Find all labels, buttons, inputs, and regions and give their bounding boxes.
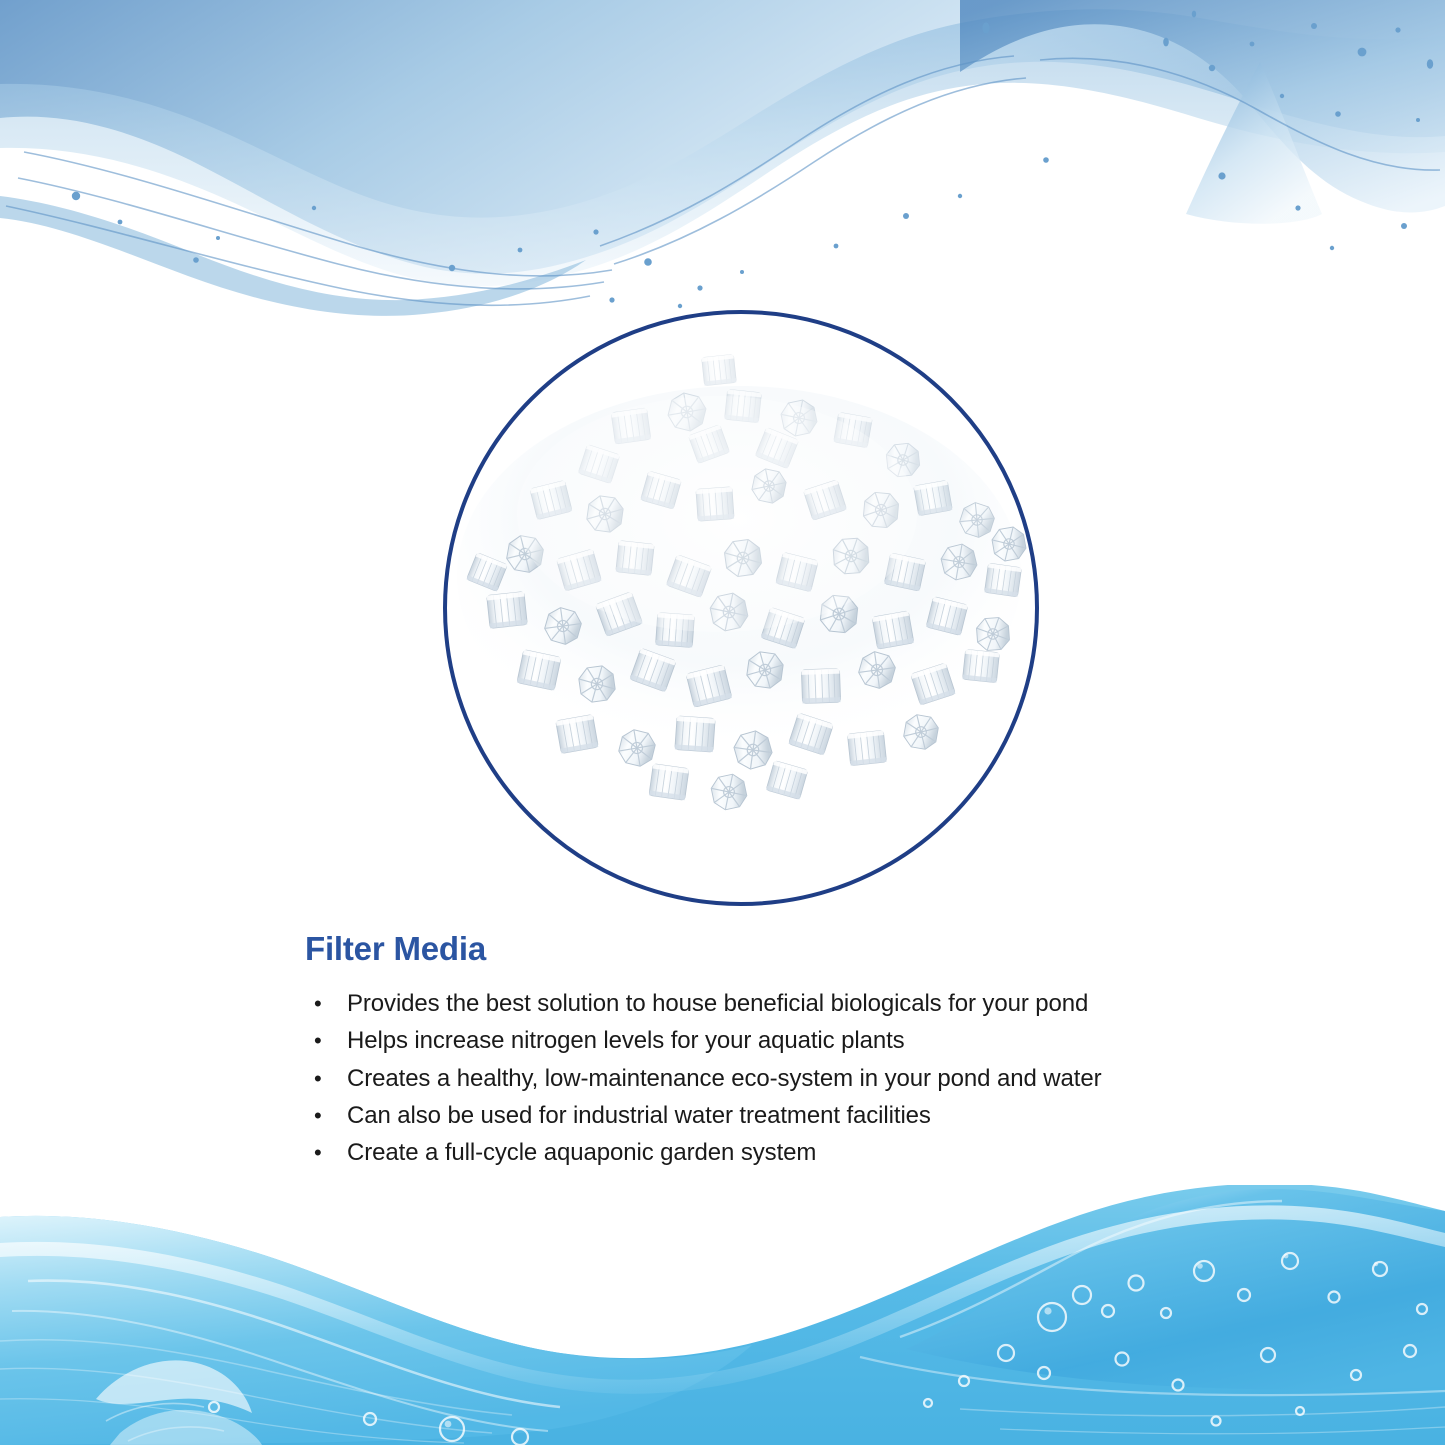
splash-left-tail bbox=[0, 196, 586, 316]
list-item-label: Creates a healthy, low-maintenance eco-s… bbox=[347, 1064, 1205, 1093]
splash-upper-body bbox=[0, 0, 1445, 274]
page-title: Filter Media bbox=[305, 932, 1205, 965]
bullet-icon: • bbox=[305, 991, 347, 1018]
filter-media-photo bbox=[447, 314, 1039, 906]
list-item: • Can also be used for industrial water … bbox=[305, 1101, 1205, 1130]
copy-block: Filter Media • Provides the best solutio… bbox=[305, 932, 1205, 1175]
product-image-circle bbox=[443, 310, 1039, 906]
water-bubbles bbox=[209, 1253, 1427, 1445]
water-right-crest bbox=[906, 1189, 1445, 1390]
splash-filaments bbox=[6, 56, 1440, 305]
list-item: • Creates a healthy, low-maintenance eco… bbox=[305, 1064, 1205, 1093]
splash-inner-sheet bbox=[0, 9, 1445, 286]
list-item-label: Provides the best solution to house bene… bbox=[347, 989, 1205, 1018]
list-item-label: Helps increase nitrogen levels for your … bbox=[347, 1026, 1205, 1055]
water-ripples bbox=[0, 1340, 1445, 1443]
splash-right-crest bbox=[960, 0, 1445, 213]
product-infographic-page: Filter Media • Provides the best solutio… bbox=[0, 0, 1445, 1445]
splash-droplets bbox=[72, 11, 1445, 309]
list-item: • Provides the best solution to house be… bbox=[305, 989, 1205, 1018]
water-body bbox=[0, 1185, 1445, 1445]
water-splash-banner bbox=[0, 0, 1445, 330]
water-foam bbox=[0, 1201, 1445, 1431]
water-surface-wave bbox=[0, 1185, 1445, 1445]
list-item: • Create a full-cycle aquaponic garden s… bbox=[305, 1138, 1205, 1167]
list-item-label: Create a full-cycle aquaponic garden sys… bbox=[347, 1138, 1205, 1167]
bullet-icon: • bbox=[305, 1140, 347, 1167]
feature-list: • Provides the best solution to house be… bbox=[305, 989, 1205, 1167]
bullet-icon: • bbox=[305, 1028, 347, 1055]
splash-spike bbox=[1186, 62, 1322, 224]
list-item-label: Can also be used for industrial water tr… bbox=[347, 1101, 1205, 1130]
list-item: • Helps increase nitrogen levels for you… bbox=[305, 1026, 1205, 1055]
bullet-icon: • bbox=[305, 1103, 347, 1130]
water-foam-burst bbox=[96, 1360, 262, 1445]
bullet-icon: • bbox=[305, 1066, 347, 1093]
water-left-crest bbox=[0, 1216, 752, 1445]
